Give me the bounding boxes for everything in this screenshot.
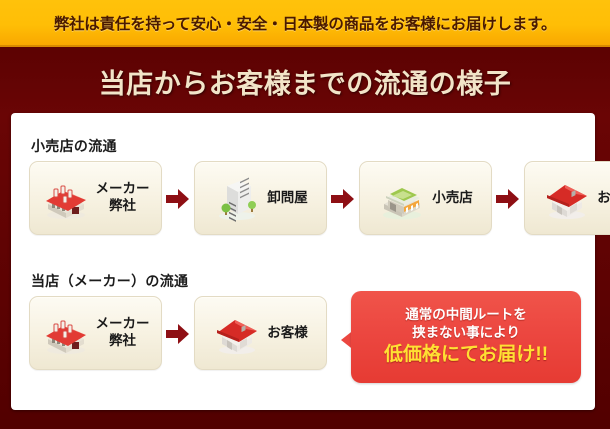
- flow-card-retailer: 小売店: [359, 161, 492, 235]
- callout-line-3-highlight: 低価格にてお届け!!: [384, 343, 548, 368]
- factory-icon: [42, 174, 90, 222]
- flow-card-label: 小売店: [432, 190, 473, 207]
- flow-card-customer: お客様: [524, 161, 610, 235]
- callout-body: 通常の中間ルートを 挟まない事により 低価格にてお届け!!: [351, 291, 581, 383]
- section-heading-direct: 当店（メーカー）の流通: [31, 271, 188, 291]
- callout-line-2: 挟まない事により: [412, 324, 520, 342]
- price-callout-bubble: 通常の中間ルートを 挟まない事により 低価格にてお届け!!: [341, 291, 581, 383]
- flow-card-wholesaler: 卸問屋: [194, 161, 327, 235]
- page-title-text: 当店からお客様までの流通の様子: [99, 62, 512, 101]
- flow-card-manufacturer-direct: メーカー 弊社: [29, 296, 162, 370]
- top-promise-banner: 弊社は責任を持って安心・安全・日本製の商品をお客様にお届けします。: [0, 0, 610, 47]
- house-icon: [213, 309, 261, 357]
- flow-card-label: お客様: [597, 190, 610, 207]
- page-title: 当店からお客様までの流通の様子: [0, 55, 610, 107]
- distribution-panel: 小売店の流通: [11, 113, 595, 410]
- arrow-right-icon: [492, 178, 524, 218]
- flow-card-label: 卸問屋: [267, 190, 308, 207]
- flow-card-manufacturer: メーカー 弊社: [29, 161, 162, 235]
- house-icon: [543, 174, 591, 222]
- flow-card-label: メーカー 弊社: [96, 181, 150, 215]
- shop-icon: [378, 174, 426, 222]
- section-heading-retail: 小売店の流通: [31, 136, 117, 156]
- flow-card-label: お客様: [267, 325, 308, 342]
- flow-card-label: メーカー 弊社: [96, 316, 150, 350]
- arrow-right-icon: [162, 178, 194, 218]
- flow-row-direct: メーカー 弊社: [29, 296, 327, 370]
- flow-row-retail: メーカー 弊社: [29, 161, 610, 235]
- top-promise-banner-text: 弊社は責任を持って安心・安全・日本製の商品をお客様にお届けします。: [54, 12, 557, 34]
- arrow-right-icon: [162, 313, 194, 353]
- office-building-icon: [213, 174, 261, 222]
- arrow-right-icon: [327, 178, 359, 218]
- factory-icon: [42, 309, 90, 357]
- callout-line-1: 通常の中間ルートを: [405, 306, 527, 324]
- flow-card-customer-direct: お客様: [194, 296, 327, 370]
